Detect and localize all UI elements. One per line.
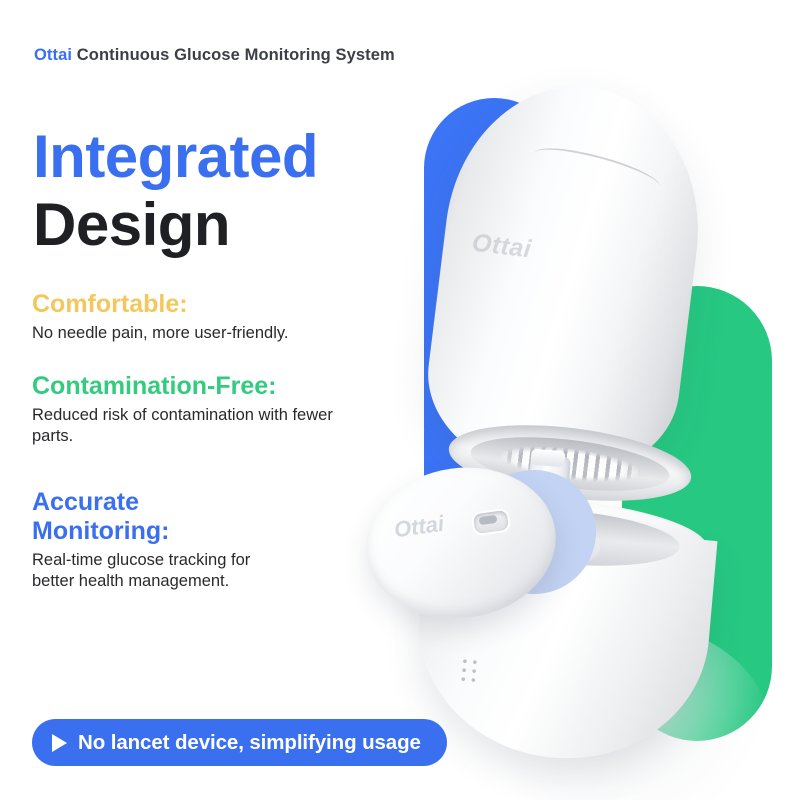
feature-title: Accurate Monitoring:: [32, 488, 232, 546]
cta-label: No lancet device, simplifying usage: [78, 731, 421, 755]
feature-body: No needle pain, more user-friendly.: [32, 323, 289, 344]
feature-body: Real-time glucose tracking for better he…: [32, 550, 282, 592]
product-line-label: Continuous Glucose Monitoring System: [77, 46, 395, 64]
brand-line: Ottai Continuous Glucose Monitoring Syst…: [34, 46, 395, 65]
headline-line-1: Integrated: [33, 127, 318, 187]
feature-accurate-monitoring: Accurate Monitoring: Real-time glucose t…: [32, 488, 282, 592]
cta-button[interactable]: No lancet device, simplifying usage: [32, 719, 447, 766]
play-triangle-icon: [52, 734, 67, 752]
dome-vent-dots: [459, 657, 487, 687]
feature-contamination-free: Contamination-Free: Reduced risk of cont…: [32, 372, 342, 447]
page-title: Integrated Design: [33, 127, 318, 255]
sensor-assembly: Ottai: [360, 458, 610, 638]
product-poster: Ottai Ottai Ottai Continuous Glucose Mon…: [0, 0, 800, 800]
headline-line-2: Design: [33, 195, 318, 255]
brand-name: Ottai: [34, 46, 72, 64]
feature-comfortable: Comfortable: No needle pain, more user-f…: [32, 290, 289, 344]
feature-title: Contamination-Free:: [32, 372, 342, 401]
feature-title: Comfortable:: [32, 290, 289, 319]
feature-body: Reduced risk of contamination with fewer…: [32, 405, 342, 447]
product-illustration: Ottai Ottai: [300, 60, 760, 740]
